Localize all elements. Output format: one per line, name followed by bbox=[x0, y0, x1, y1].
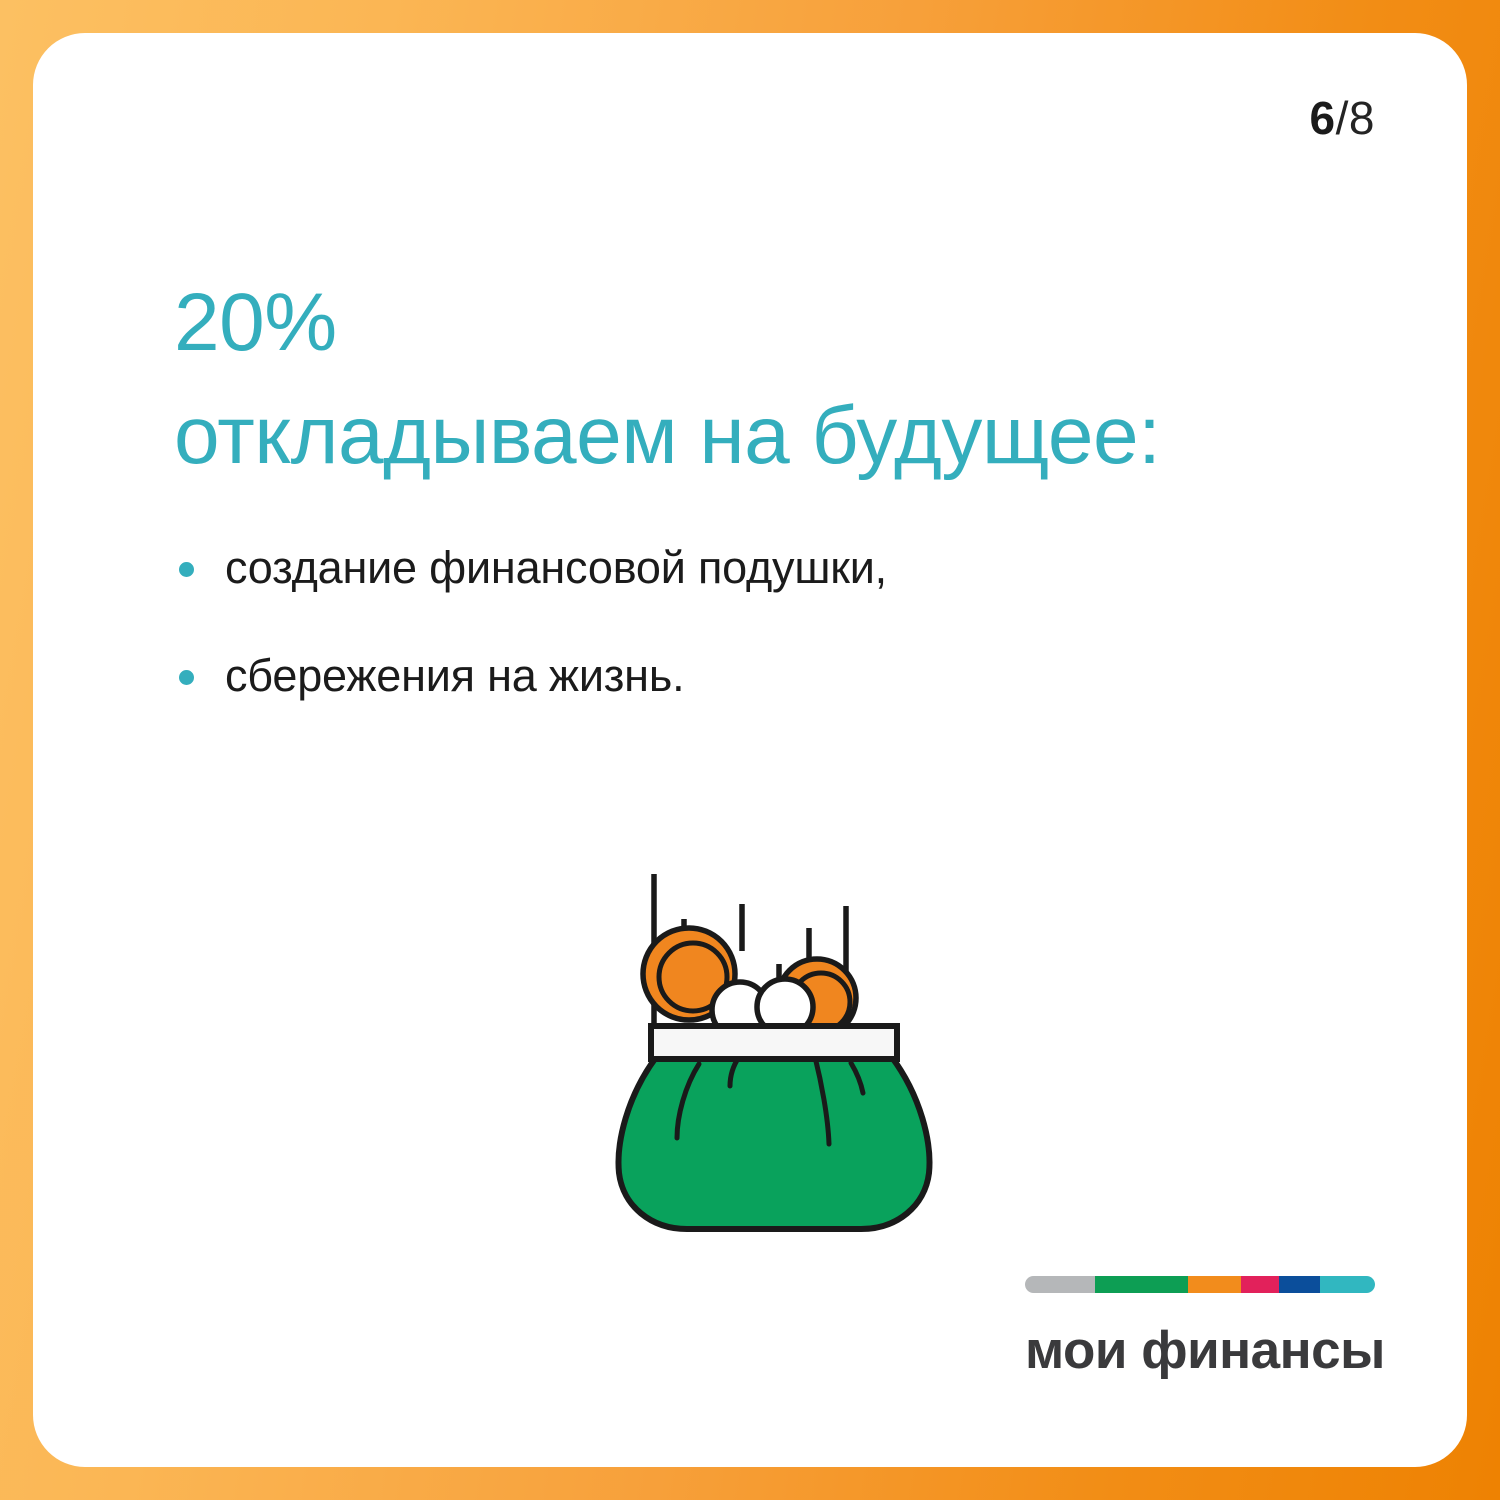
logo-bar-segment-dark-blue bbox=[1279, 1276, 1320, 1293]
logo-bar-segment-crimson bbox=[1241, 1276, 1279, 1293]
logo-bar-segment-orange bbox=[1188, 1276, 1241, 1293]
list-item-label: создание финансовой подушки, bbox=[225, 538, 887, 599]
page-title-line-1: 20% bbox=[174, 266, 1160, 379]
bullet-dot-icon bbox=[179, 562, 194, 577]
logo-bar-segment-gray bbox=[1025, 1276, 1095, 1293]
page-indicator-current: 6 bbox=[1310, 92, 1336, 144]
logo-bar-segment-green bbox=[1095, 1276, 1188, 1293]
brand-logo: мои финансы bbox=[1025, 1276, 1375, 1377]
purse-body bbox=[619, 1056, 930, 1229]
page-title-line-2: откладываем на будущее: bbox=[174, 379, 1160, 492]
page-indicator-total: 8 bbox=[1349, 92, 1375, 144]
logo-bar-segment-teal bbox=[1320, 1276, 1375, 1293]
list-item-label: сбережения на жизнь. bbox=[225, 646, 684, 707]
logo-wordmark: мои финансы bbox=[1025, 1324, 1375, 1377]
purse-illustration bbox=[589, 851, 959, 1251]
page-indicator-separator: / bbox=[1336, 92, 1349, 144]
slide-root: 6/8 20% откладываем на будущее: создание… bbox=[0, 0, 1500, 1500]
content-card: 6/8 20% откладываем на будущее: создание… bbox=[33, 33, 1467, 1467]
bullet-dot-icon bbox=[179, 670, 194, 685]
page-indicator: 6/8 bbox=[1310, 95, 1375, 141]
list-item: создание финансовой подушки, bbox=[179, 538, 1279, 599]
page-title: 20% откладываем на будущее: bbox=[174, 266, 1160, 492]
bullet-list: создание финансовой подушки, сбережения … bbox=[179, 538, 1279, 754]
purse-clasp bbox=[651, 1026, 897, 1059]
logo-color-bar bbox=[1025, 1276, 1375, 1293]
list-item: сбережения на жизнь. bbox=[179, 646, 1279, 707]
